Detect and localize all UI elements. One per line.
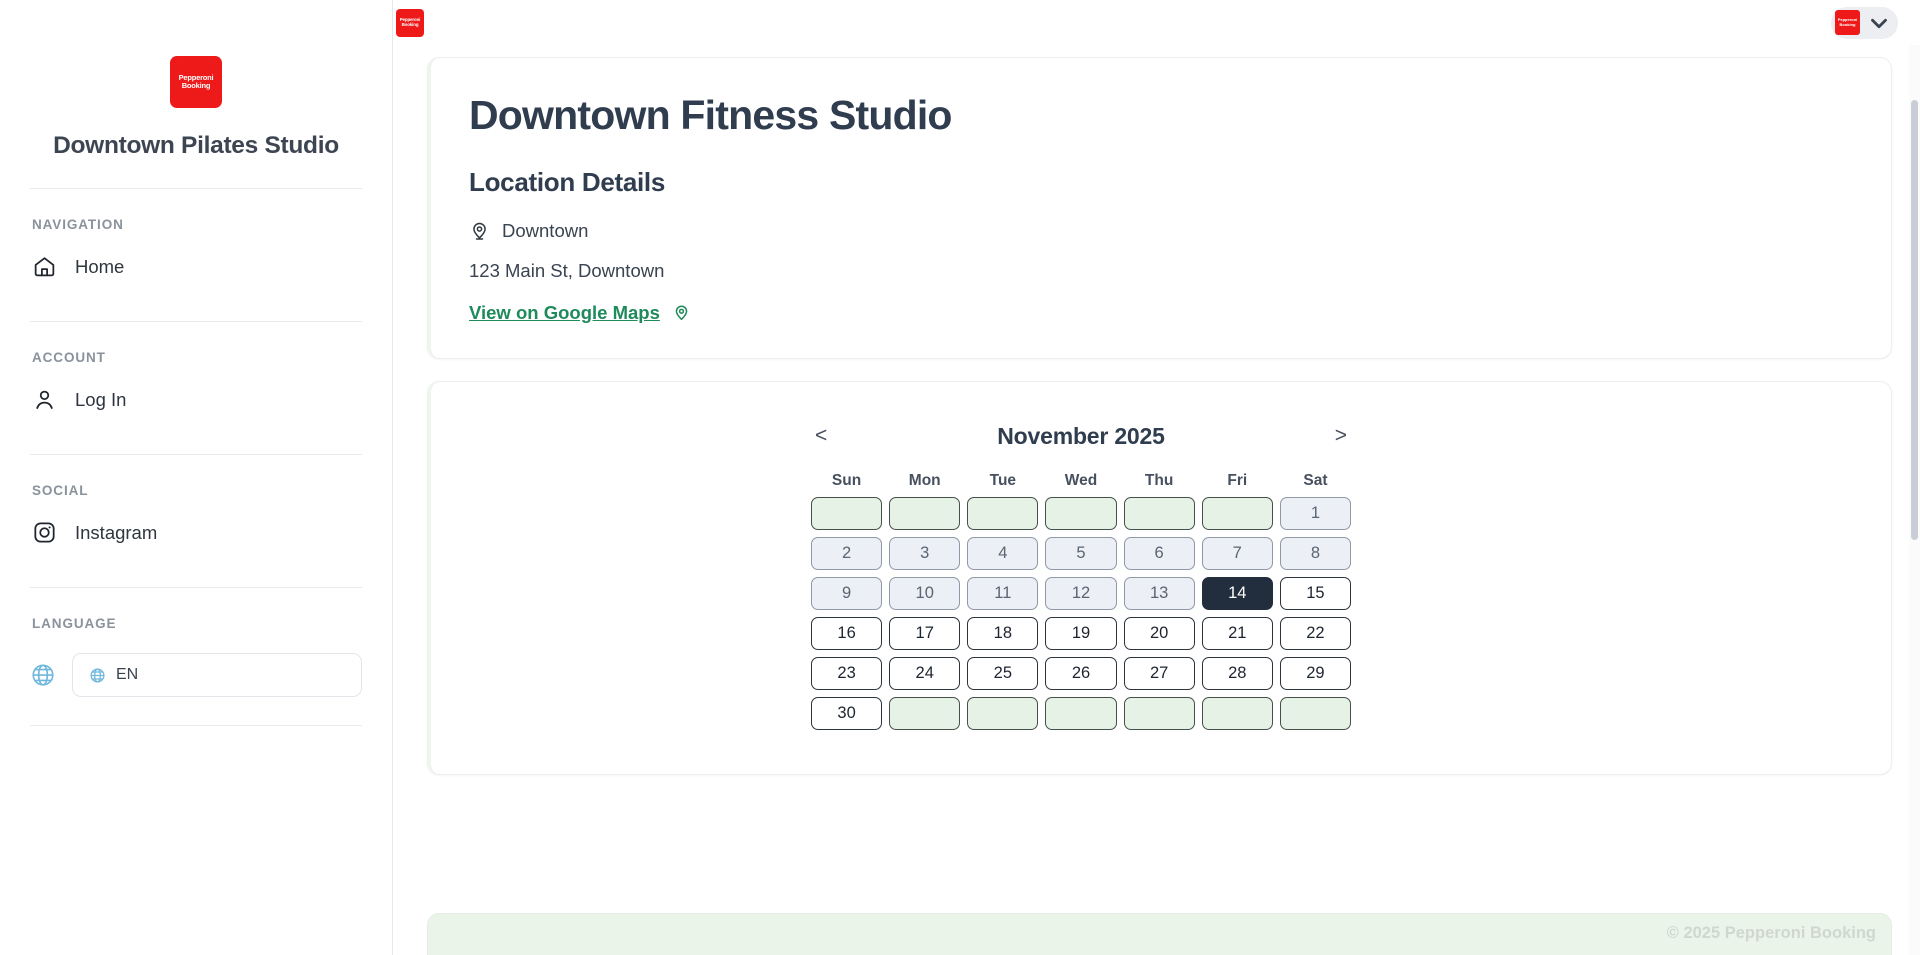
calendar-day-empty: [1280, 697, 1351, 730]
view-on-google-maps-link[interactable]: View on Google Maps: [469, 302, 691, 324]
main-content: Pepperoni Booking Pepperoni Booking Down…: [393, 0, 1920, 955]
calendar-day-1: 1: [1280, 497, 1351, 530]
calendar-weekday-header: SunMonTueWedThuFriSat: [811, 472, 1351, 490]
calendar-month-title: November 2025: [841, 423, 1320, 450]
calendar-day-20[interactable]: 20: [1124, 617, 1195, 650]
language-selected-value: EN: [116, 666, 138, 684]
sidebar-item-instagram-label: Instagram: [75, 522, 157, 544]
map-pin-icon: [469, 221, 490, 242]
topbar-account-menu[interactable]: Pepperoni Booking: [1831, 7, 1898, 39]
calendar-card: < November 2025 > SunMonTueWedThuFriSat …: [427, 381, 1892, 775]
chevron-down-icon[interactable]: [1866, 10, 1892, 36]
calendar-day-2: 2: [811, 537, 882, 570]
calendar-day-empty: [1202, 497, 1273, 530]
calendar-day-empty: [1124, 697, 1195, 730]
sidebar-item-instagram[interactable]: Instagram: [30, 506, 362, 559]
divider: [30, 321, 362, 322]
calendar-day-27[interactable]: 27: [1124, 657, 1195, 690]
location-name: Downtown: [502, 220, 588, 242]
topbar-badge-line2: Booking: [1840, 23, 1856, 27]
home-icon: [32, 254, 57, 279]
calendar-day-11: 11: [967, 577, 1038, 610]
calendar-day-16[interactable]: 16: [811, 617, 882, 650]
calendar-grid: SunMonTueWedThuFriSat 123456789101112131…: [811, 472, 1351, 730]
language-select[interactable]: EN: [72, 653, 362, 697]
calendar-weekday-sat: Sat: [1280, 472, 1351, 490]
calendar-week-row: 30: [811, 697, 1351, 730]
calendar-day-7: 7: [1202, 537, 1273, 570]
calendar-day-29[interactable]: 29: [1280, 657, 1351, 690]
sidebar-item-log-in[interactable]: Log In: [30, 373, 362, 426]
divider: [30, 725, 362, 726]
calendar-day-empty: [967, 497, 1038, 530]
calendar-weekday-sun: Sun: [811, 472, 882, 490]
calendar-day-empty: [1124, 497, 1195, 530]
app-root: Pepperoni Booking Downtown Pilates Studi…: [0, 0, 1920, 955]
location-address: 123 Main St, Downtown: [469, 260, 1851, 282]
calendar-week-row: 23242526272829: [811, 657, 1351, 690]
calendar-day-empty: [811, 497, 882, 530]
calendar-day-13: 13: [1124, 577, 1195, 610]
calendar-weekday-wed: Wed: [1045, 472, 1116, 490]
calendar-day-9: 9: [811, 577, 882, 610]
calendar-day-8: 8: [1280, 537, 1351, 570]
sidebar-item-home-label: Home: [75, 256, 124, 278]
calendar-prev-month-button[interactable]: <: [801, 418, 841, 454]
calendar-day-19[interactable]: 19: [1045, 617, 1116, 650]
calendar-week-row: 16171819202122: [811, 617, 1351, 650]
calendar-day-21[interactable]: 21: [1202, 617, 1273, 650]
instagram-icon: [32, 520, 57, 545]
sidebar-item-log-in-label: Log In: [75, 389, 126, 411]
calendar-weekday-tue: Tue: [967, 472, 1038, 490]
topbar-logo[interactable]: Pepperoni Booking: [396, 9, 424, 37]
calendar-day-empty: [967, 697, 1038, 730]
divider: [30, 587, 362, 588]
topbar-badge: Pepperoni Booking: [1835, 10, 1860, 35]
calendar-day-14-selected[interactable]: 14: [1202, 577, 1273, 610]
calendar-day-26[interactable]: 26: [1045, 657, 1116, 690]
calendar-day-10: 10: [889, 577, 960, 610]
calendar-day-empty: [889, 497, 960, 530]
sidebar-brand: Pepperoni Booking: [30, 56, 362, 108]
calendar-day-30[interactable]: 30: [811, 697, 882, 730]
brand-logo-line2: Booking: [182, 82, 211, 90]
map-pin-icon-green: [672, 304, 691, 323]
calendar-week-row: 2345678: [811, 537, 1351, 570]
page-title: Downtown Fitness Studio: [469, 92, 1851, 139]
calendar-day-6: 6: [1124, 537, 1195, 570]
calendar-day-15[interactable]: 15: [1280, 577, 1351, 610]
calendar-day-24[interactable]: 24: [889, 657, 960, 690]
calendar-weekday-thu: Thu: [1124, 472, 1195, 490]
calendar-day-18[interactable]: 18: [967, 617, 1038, 650]
calendar-weeks: 1234567891011121314151617181920212223242…: [811, 497, 1351, 730]
scrollbar-track[interactable]: [1909, 45, 1920, 955]
divider: [30, 454, 362, 455]
calendar-day-12: 12: [1045, 577, 1116, 610]
calendar-week-row: 9101112131415: [811, 577, 1351, 610]
calendar-day-25[interactable]: 25: [967, 657, 1038, 690]
calendar-day-empty: [1045, 497, 1116, 530]
calendar-day-3: 3: [889, 537, 960, 570]
calendar-day-empty: [1202, 697, 1273, 730]
calendar-day-5: 5: [1045, 537, 1116, 570]
calendar-next-month-button[interactable]: >: [1321, 418, 1361, 454]
content-scroll-area: Downtown Fitness Studio Location Details…: [393, 45, 1920, 775]
calendar-day-28[interactable]: 28: [1202, 657, 1273, 690]
calendar-day-empty: [1045, 697, 1116, 730]
section-label-account: ACCOUNT: [32, 350, 362, 365]
divider: [30, 188, 362, 189]
section-label-navigation: NAVIGATION: [32, 217, 362, 232]
calendar-week-row: 1: [811, 497, 1351, 530]
calendar-day-empty: [889, 697, 960, 730]
calendar-day-23[interactable]: 23: [811, 657, 882, 690]
location-card: Downtown Fitness Studio Location Details…: [427, 57, 1892, 359]
location-section-title: Location Details: [469, 167, 1851, 198]
calendar-weekday-fri: Fri: [1202, 472, 1273, 490]
calendar-day-22[interactable]: 22: [1280, 617, 1351, 650]
globe-icon-small: [89, 667, 106, 684]
scrollbar-thumb[interactable]: [1911, 100, 1918, 540]
section-label-social: SOCIAL: [32, 483, 362, 498]
calendar-header: < November 2025 >: [801, 418, 1361, 454]
globe-icon: [30, 662, 56, 688]
location-name-row: Downtown: [469, 220, 1851, 242]
calendar-day-4: 4: [967, 537, 1038, 570]
sidebar-item-home[interactable]: Home: [30, 240, 362, 293]
language-row: EN: [30, 653, 362, 697]
user-icon: [32, 387, 57, 412]
topbar-logo-line2: Booking: [402, 23, 419, 28]
brand-logo: Pepperoni Booking: [170, 56, 222, 108]
section-label-language: LANGUAGE: [32, 616, 362, 631]
sidebar: Pepperoni Booking Downtown Pilates Studi…: [0, 0, 393, 955]
calendar-weekday-mon: Mon: [889, 472, 960, 490]
calendar-day-17[interactable]: 17: [889, 617, 960, 650]
view-on-google-maps-label: View on Google Maps: [469, 302, 660, 324]
topbar: Pepperoni Booking Pepperoni Booking: [393, 0, 1920, 45]
footer-watermark: © 2025 Pepperoni Booking: [1667, 924, 1876, 943]
studio-name: Downtown Pilates Studio: [30, 132, 362, 160]
